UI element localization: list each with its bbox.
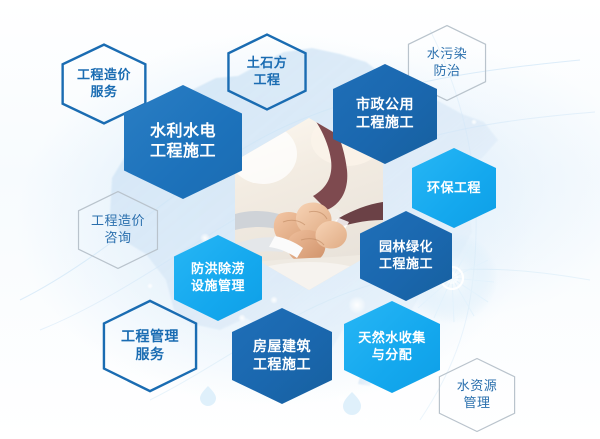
hexagon-label: 水污染防治 — [427, 46, 468, 79]
hexagon-label-line: 管理 — [457, 395, 498, 412]
hexagon-label: 市政公用工程施工 — [356, 96, 414, 132]
hexagon-label-line: 工程施工 — [253, 356, 311, 374]
hexagon-label-line: 工程管理 — [121, 328, 179, 346]
hexagon-label-line: 设施管理 — [191, 278, 245, 295]
hexagon-tushifang-gongcheng[interactable]: 土石方工程 — [226, 33, 308, 111]
hexagon-label: 水资源管理 — [457, 378, 498, 411]
hexagon-label: 土石方工程 — [247, 55, 288, 88]
hexagon-label-line: 服务 — [121, 346, 179, 364]
hexagon-label: 防洪除涝设施管理 — [191, 261, 245, 294]
hexagon-label: 天然水收集与分配 — [358, 330, 426, 363]
hexagon-label-line: 咨询 — [91, 230, 145, 247]
hexagon-label-line: 水资源 — [457, 378, 498, 395]
hexagon-label-line: 水利水电 — [150, 122, 216, 142]
hexagon-gongcheng-zaojia-zixun[interactable]: 工程造价咨询 — [76, 190, 160, 270]
hexagon-shuiziyuan-guanli[interactable]: 水资源管理 — [437, 357, 517, 433]
hexagon-label-line: 防洪除涝 — [191, 261, 245, 278]
hexagon-label-line: 天然水收集 — [358, 330, 426, 347]
hexagon-label-line: 工程 — [247, 72, 288, 89]
hexagon-gongcheng-guanli-fuwu[interactable]: 工程管理服务 — [101, 299, 199, 393]
hexagon-label-line: 市政公用 — [356, 96, 414, 114]
hexagon-label-line: 工程施工 — [379, 256, 433, 273]
hexagon-label-line: 土石方 — [247, 55, 288, 72]
hexagon-label-line: 工程施工 — [150, 142, 216, 162]
hexagon-label: 工程管理服务 — [121, 328, 179, 364]
hexagon-label: 园林绿化工程施工 — [379, 239, 433, 272]
hexagon-label-line: 工程造价 — [77, 67, 131, 84]
hexagon-label: 工程造价咨询 — [91, 213, 145, 246]
hexagon-label-line: 房屋建筑 — [253, 338, 311, 356]
hexagon-label-line: 工程施工 — [356, 114, 414, 132]
infographic-canvas: 工程造价服务土石方工程水污染防治水利水电工程施工市政公用工程施工环保工程工程造价… — [0, 0, 600, 439]
hexagon-label-line: 服务 — [77, 84, 131, 101]
hexagon-label-line: 环保工程 — [427, 180, 481, 197]
hexagon-label-line: 防治 — [427, 63, 468, 80]
hexagon-label-line: 工程造价 — [91, 213, 145, 230]
hexagon-label: 房屋建筑工程施工 — [253, 338, 311, 374]
hexagon-label-line: 水污染 — [427, 46, 468, 63]
hexagon-label: 工程造价服务 — [77, 67, 131, 100]
hexagon-label: 环保工程 — [427, 180, 481, 197]
hexagon-label: 水利水电工程施工 — [150, 122, 216, 163]
hexagon-label-line: 与分配 — [358, 347, 426, 364]
hexagon-label-line: 园林绿化 — [379, 239, 433, 256]
